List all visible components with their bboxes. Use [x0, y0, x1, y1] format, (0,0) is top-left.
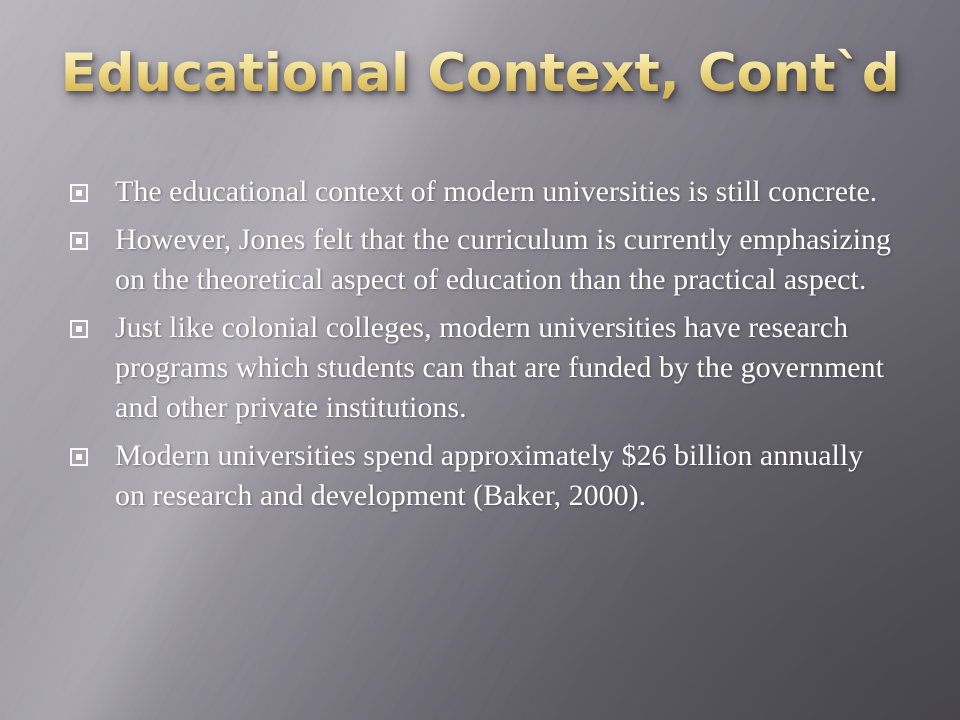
- slide-title-block: Educational Context, Cont`d: [0, 46, 960, 102]
- bullet-text: The educational context of modern univer…: [115, 172, 900, 212]
- box-in-box-bullet-icon: [70, 320, 88, 338]
- box-in-box-bullet-icon: [70, 184, 88, 202]
- presentation-slide: Educational Context, Cont`d The educatio…: [0, 0, 960, 720]
- bullet-item: Modern universities spend approximately …: [70, 436, 900, 516]
- bullet-text: Modern universities spend approximately …: [115, 436, 900, 516]
- bullet-text: Just like colonial colleges, modern univ…: [115, 308, 900, 428]
- bullet-text: However, Jones felt that the curriculum …: [115, 220, 900, 300]
- bullet-item: The educational context of modern univer…: [70, 172, 900, 212]
- box-in-box-bullet-icon: [70, 448, 88, 466]
- box-in-box-bullet-icon: [70, 232, 88, 250]
- slide-title: Educational Context, Cont`d: [61, 46, 900, 102]
- bullet-item: Just like colonial colleges, modern univ…: [70, 308, 900, 428]
- slide-body: The educational context of modern univer…: [70, 172, 900, 524]
- bullet-item: However, Jones felt that the curriculum …: [70, 220, 900, 300]
